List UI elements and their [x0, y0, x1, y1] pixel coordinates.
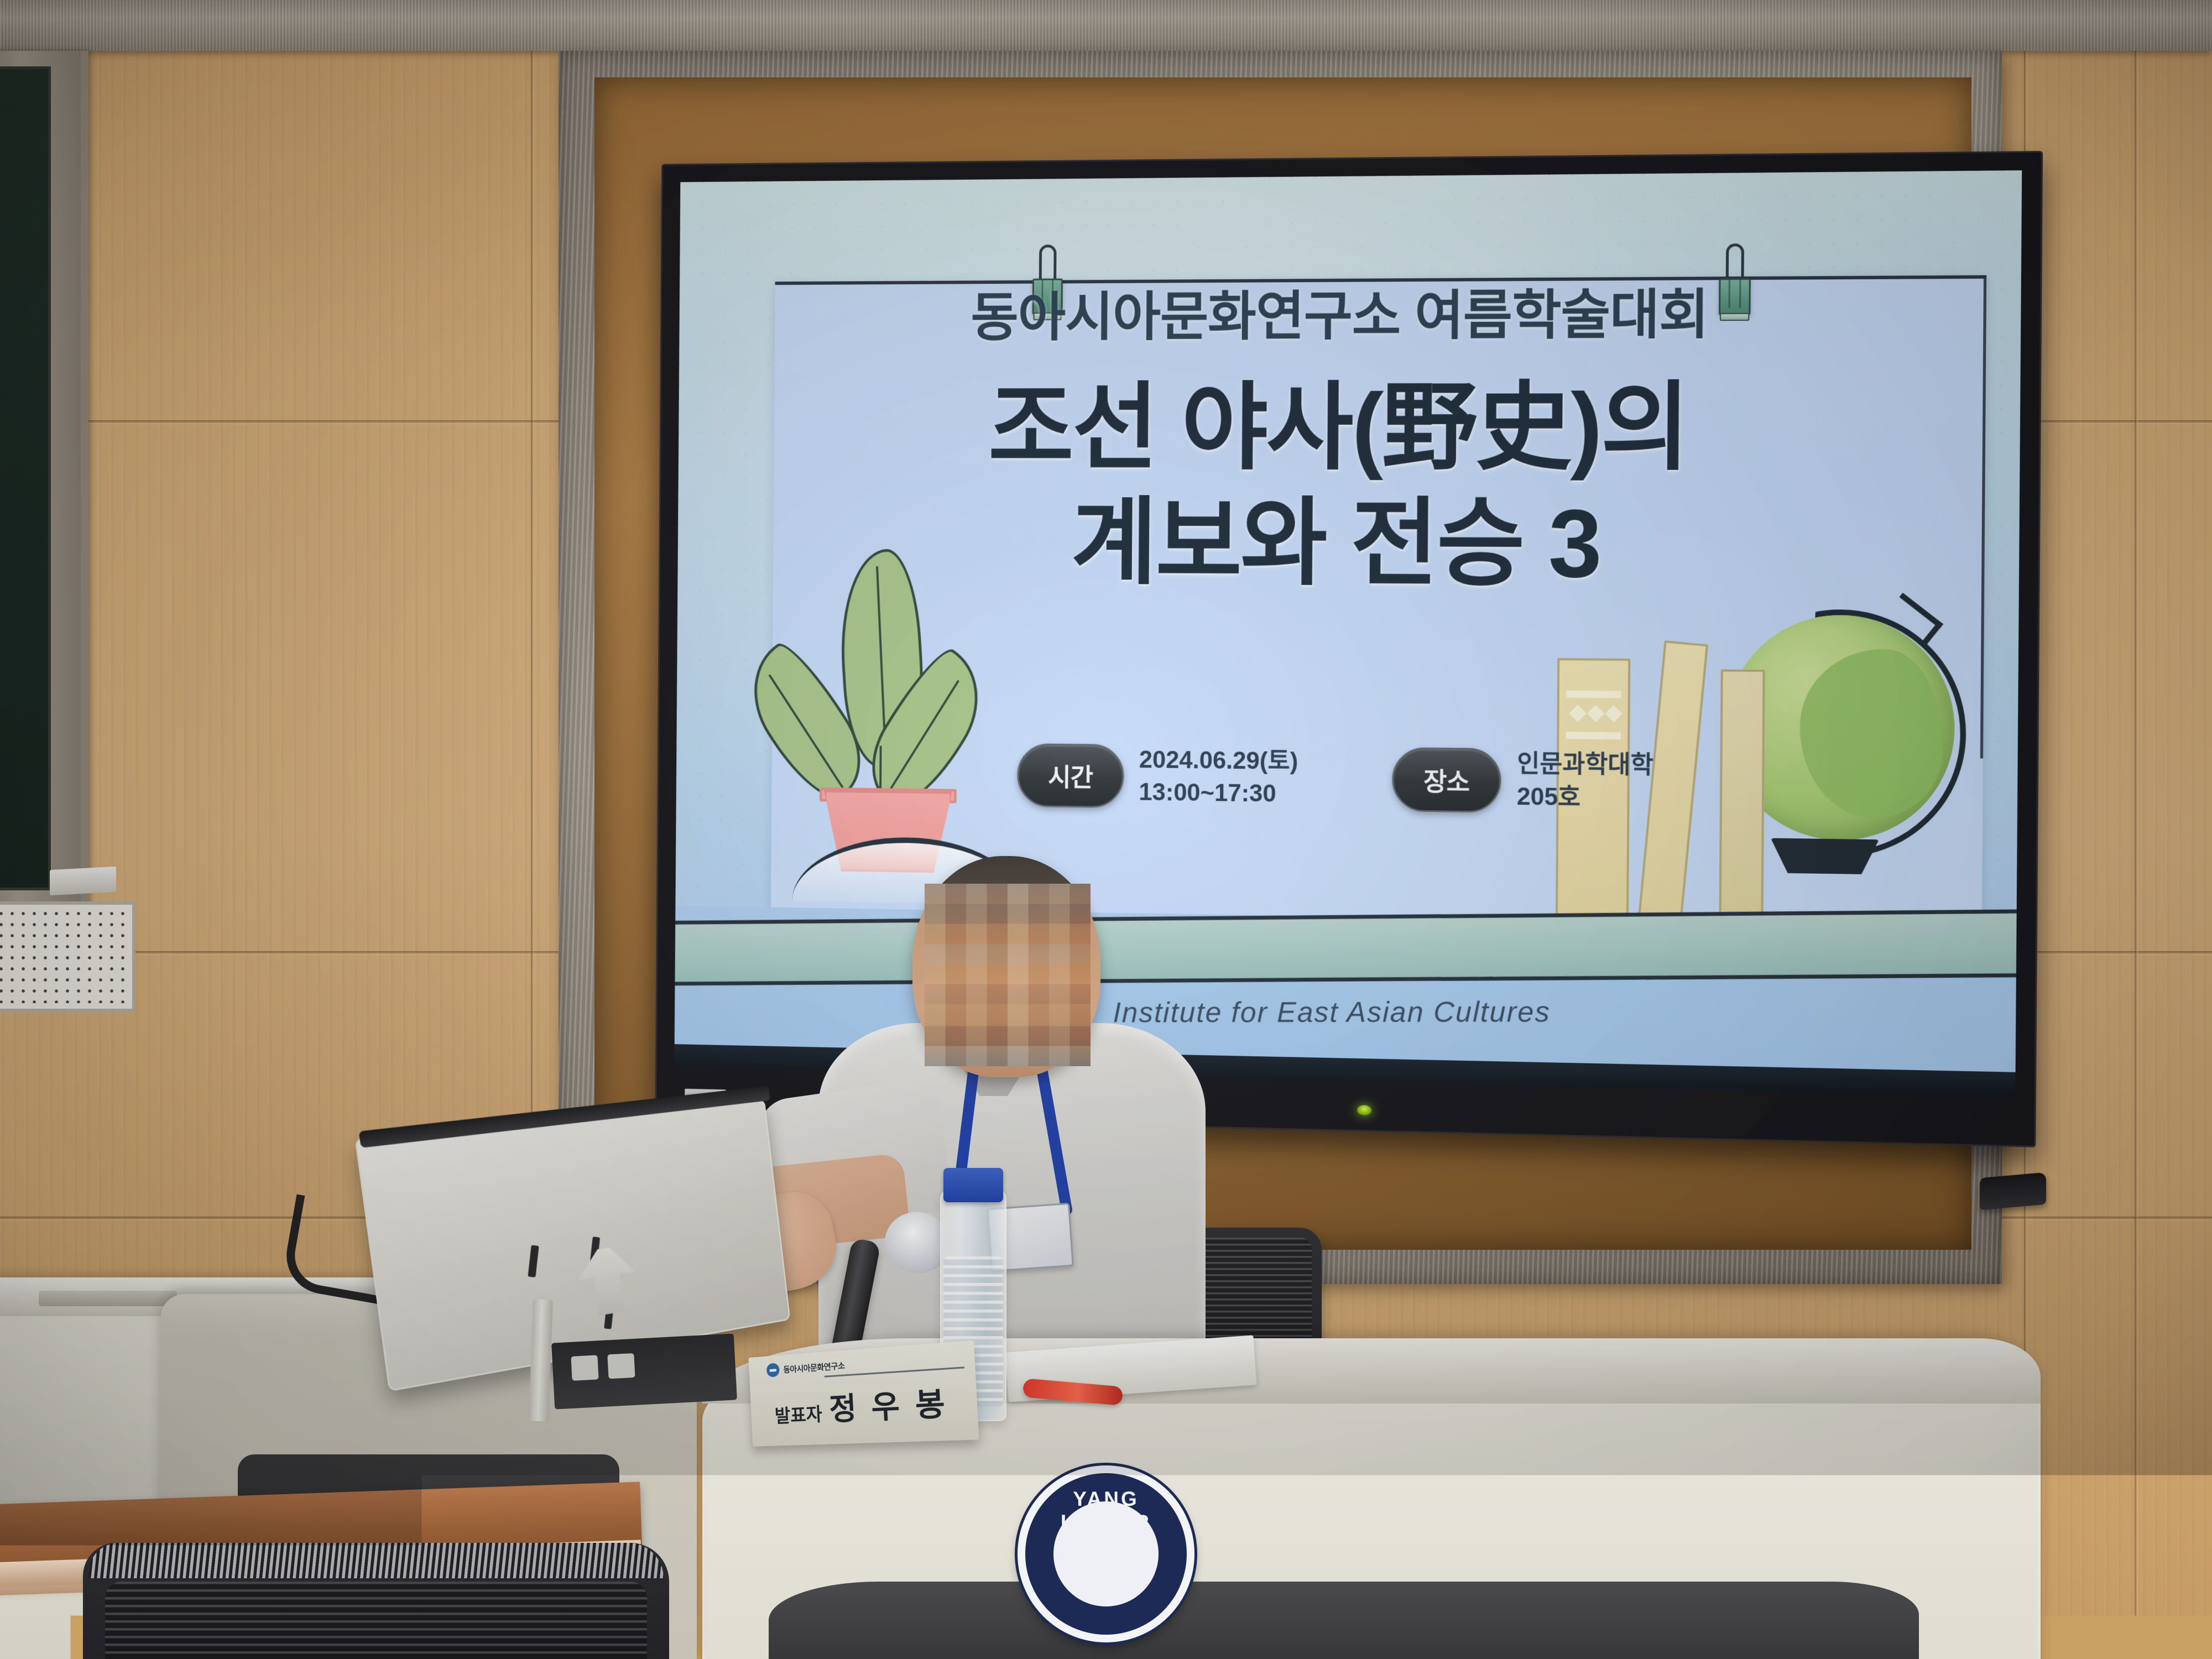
nameplate-name: 발표자정 우 봉: [750, 1376, 978, 1432]
info-item-time: 시간 2024.06.29(토) 13:00~17:30: [1017, 743, 1298, 811]
nameplate-role: 발표자: [774, 1404, 822, 1427]
wall-speaker: [1980, 1172, 2046, 1210]
slide-text-block: 동아시아문화연구소 여름학술대회 조선 야사(野史)의 계보와 전승 3: [677, 284, 2021, 606]
face-pixelation-mask: [925, 884, 1091, 1066]
slide-subtitle: 동아시아문화연구소 여름학술대회: [679, 284, 2021, 348]
wall-seam-vertical: [2135, 0, 2138, 1659]
venue-pill-label: 장소: [1391, 747, 1501, 813]
foreground-chair[interactable]: [83, 1543, 669, 1659]
nameplate-org: 동아시아문화연구소: [783, 1359, 845, 1375]
time-range: 13:00~17:30: [1139, 776, 1298, 811]
time-value: 2024.06.29(토) 13:00~17:30: [1139, 744, 1298, 811]
wall-vent-grille: [0, 901, 135, 1012]
port-socket[interactable]: [607, 1353, 635, 1379]
potted-plant-icon: [760, 549, 988, 900]
venue-room: 205호: [1517, 781, 1653, 815]
slide-info-row: 시간 2024.06.29(토) 13:00~17:30 장소 인문과학대학 2…: [836, 741, 1845, 818]
ceiling-beam: [0, 0, 2212, 51]
screenshot-root: 동아시아문화연구소 여름학술대회 조선 야사(野史)의 계보와 전승 3 시간 …: [0, 0, 2212, 1659]
institute-logo-icon: [766, 1363, 780, 1377]
chalkboard: [0, 66, 51, 890]
presenter-person: [796, 852, 1228, 1416]
venue-value: 인문과학대학 205호: [1517, 748, 1653, 815]
nameplate-person: 정 우 봉: [828, 1386, 950, 1427]
port-panel[interactable]: [551, 1333, 737, 1409]
chalk-tray: [50, 867, 116, 895]
info-item-venue: 장소 인문과학대학 205호: [1391, 747, 1653, 815]
port-socket[interactable]: [571, 1355, 598, 1380]
nameplate-rule: [825, 1366, 964, 1377]
chalkboard-frame: [0, 51, 88, 952]
venue-building: 인문과학대학: [1517, 748, 1653, 782]
time-pill-label: 시간: [1017, 743, 1124, 808]
vesa-mount: [575, 1244, 640, 1318]
nameplate-logo-row: 동아시아문화연구소: [766, 1358, 846, 1378]
slide-title-line-1: 조선 야사(野史)의: [679, 368, 2021, 487]
foreground-chair-secondary[interactable]: [686, 1604, 1073, 1659]
slide-title: 조선 야사(野史)의 계보와 전승 3: [677, 368, 2021, 606]
monitor-arm: [529, 1299, 553, 1421]
speaker-nameplate: 동아시아문화연구소 발표자정 우 봉: [749, 1340, 979, 1447]
tv-power-led-icon: [1357, 1105, 1371, 1115]
bottle-cap[interactable]: [943, 1168, 1003, 1202]
slide-title-line-2: 계보와 전승 3: [677, 484, 2020, 606]
time-date: 2024.06.29(토): [1139, 744, 1298, 778]
